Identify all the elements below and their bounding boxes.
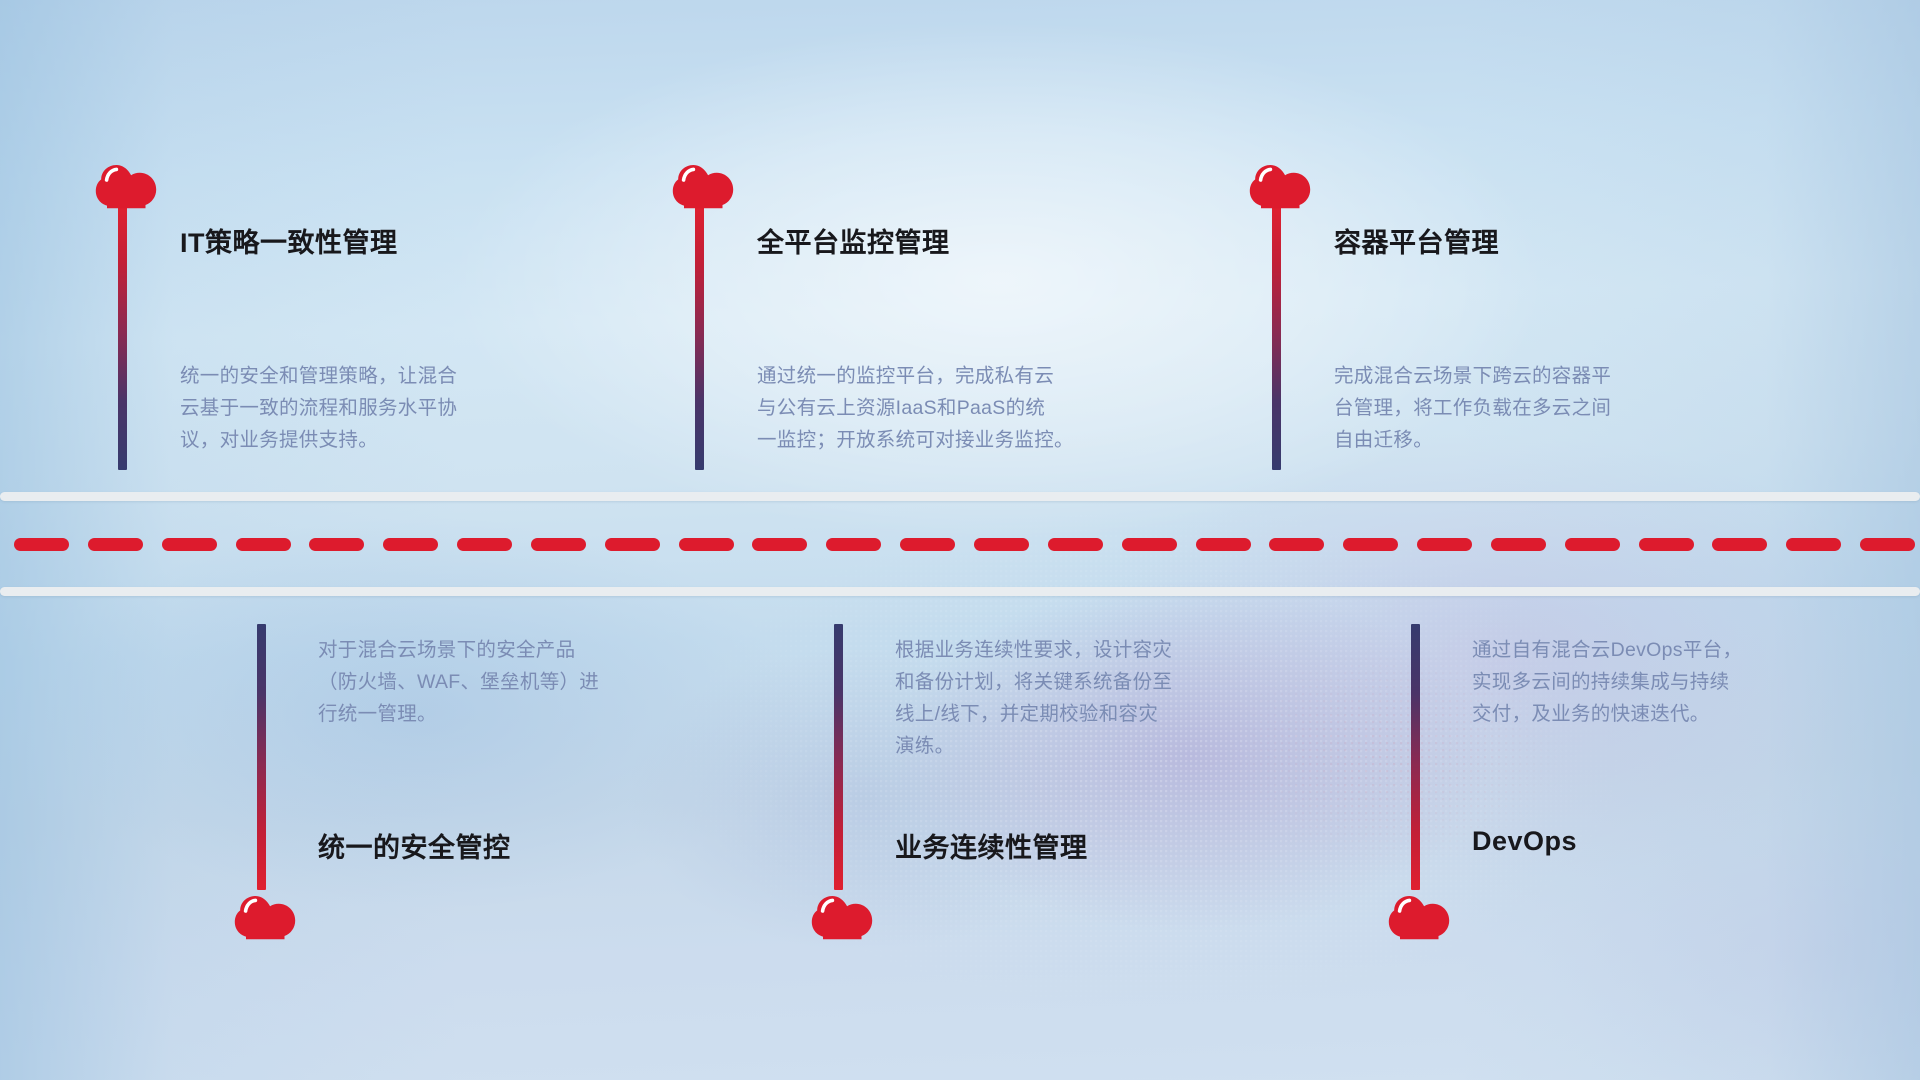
road-dash-segment	[309, 538, 364, 551]
road-dash-segment	[605, 538, 660, 551]
marker-title: DevOps	[1472, 826, 1577, 857]
marker-description-line: 与公有云上资源IaaS和PaaS的统	[757, 392, 1074, 424]
marker-description-line: （防火墙、WAF、堡垒机等）进	[318, 666, 599, 698]
road-dash-segment	[900, 538, 955, 551]
road-dash-segment	[162, 538, 217, 551]
road-dash-segment	[1196, 538, 1251, 551]
marker-description: 通过自有混合云DevOps平台，实现多云间的持续集成与持续交付，及业务的快速迭代…	[1472, 634, 1742, 730]
road-edge-top-line	[0, 492, 1920, 501]
road-dash-segment	[1122, 538, 1177, 551]
marker-title: 统一的安全管控	[318, 826, 511, 865]
marker-description: 根据业务连续性要求，设计容灾和备份计划，将关键系统备份至线上/线下，并定期校验和…	[895, 634, 1172, 762]
road-dash-segment	[974, 538, 1029, 551]
road-dash-segment	[1786, 538, 1841, 551]
marker-description-line: 台管理，将工作负载在多云之间	[1334, 392, 1611, 424]
marker-title: 全平台监控管理	[757, 221, 950, 260]
road-dash-segment	[1712, 538, 1767, 551]
marker-description-line: 对于混合云场景下的安全产品	[318, 634, 599, 666]
marker-description-line: 议，对业务提供支持。	[180, 424, 457, 456]
road-dash-segment	[1048, 538, 1103, 551]
infographic-canvas: IT策略一致性管理统一的安全和管理策略，让混合云基于一致的流程和服务水平协议，对…	[0, 0, 1920, 1080]
marker-description-line: 线上/线下，并定期校验和容灾	[895, 698, 1172, 730]
road-dash-segment	[1417, 538, 1472, 551]
road-dash-segment	[1269, 538, 1324, 551]
marker-description: 通过统一的监控平台，完成私有云与公有云上资源IaaS和PaaS的统一监控；开放系…	[757, 360, 1074, 456]
road-dash-segment	[679, 538, 734, 551]
marker-description: 统一的安全和管理策略，让混合云基于一致的流程和服务水平协议，对业务提供支持。	[180, 360, 457, 456]
cloud-pin-icon[interactable]	[672, 162, 734, 210]
cloud-pin-icon[interactable]	[811, 893, 873, 941]
marker-description-line: 实现多云间的持续集成与持续	[1472, 666, 1742, 698]
marker-stem-line	[118, 205, 127, 470]
road-center-dashes	[0, 538, 1920, 551]
marker-description-line: 云基于一致的流程和服务水平协	[180, 392, 457, 424]
road-dash-segment	[1491, 538, 1546, 551]
road-edge-bottom-line	[0, 587, 1920, 596]
marker-description-line: 自由迁移。	[1334, 424, 1611, 456]
road-dash-segment	[752, 538, 807, 551]
marker-description-line: 行统一管理。	[318, 698, 599, 730]
road-dash-segment	[14, 538, 69, 551]
cloud-pin-icon[interactable]	[1249, 162, 1311, 210]
road-dash-segment	[383, 538, 438, 551]
marker-description-line: 一监控；开放系统可对接业务监控。	[757, 424, 1074, 456]
marker-description-line: 完成混合云场景下跨云的容器平	[1334, 360, 1611, 392]
marker-title: 容器平台管理	[1334, 221, 1499, 260]
road-dash-segment	[88, 538, 143, 551]
marker-stem-line	[1411, 624, 1420, 890]
road-dash-segment	[1639, 538, 1694, 551]
marker-description: 对于混合云场景下的安全产品（防火墙、WAF、堡垒机等）进行统一管理。	[318, 634, 599, 730]
road-dash-segment	[1565, 538, 1620, 551]
marker-stem-line	[695, 205, 704, 470]
marker-description-line: 通过统一的监控平台，完成私有云	[757, 360, 1074, 392]
cloud-pin-icon[interactable]	[95, 162, 157, 210]
cloud-pin-icon[interactable]	[234, 893, 296, 941]
marker-description-line: 统一的安全和管理策略，让混合	[180, 360, 457, 392]
marker-title: IT策略一致性管理	[180, 221, 398, 260]
marker-description-line: 演练。	[895, 730, 1172, 762]
marker-title: 业务连续性管理	[895, 826, 1088, 865]
road-dash-segment	[236, 538, 291, 551]
road-dash-segment	[457, 538, 512, 551]
road-dash-segment	[1860, 538, 1915, 551]
road-dash-segment	[826, 538, 881, 551]
marker-description-line: 通过自有混合云DevOps平台，	[1472, 634, 1742, 666]
marker-description-line: 根据业务连续性要求，设计容灾	[895, 634, 1172, 666]
marker-description-line: 交付，及业务的快速迭代。	[1472, 698, 1742, 730]
marker-stem-line	[1272, 205, 1281, 470]
marker-stem-line	[257, 624, 266, 890]
cloud-pin-icon[interactable]	[1388, 893, 1450, 941]
road-dash-segment	[1343, 538, 1398, 551]
marker-stem-line	[834, 624, 843, 890]
road-dash-segment	[531, 538, 586, 551]
marker-description-line: 和备份计划，将关键系统备份至	[895, 666, 1172, 698]
marker-description: 完成混合云场景下跨云的容器平台管理，将工作负载在多云之间自由迁移。	[1334, 360, 1611, 456]
